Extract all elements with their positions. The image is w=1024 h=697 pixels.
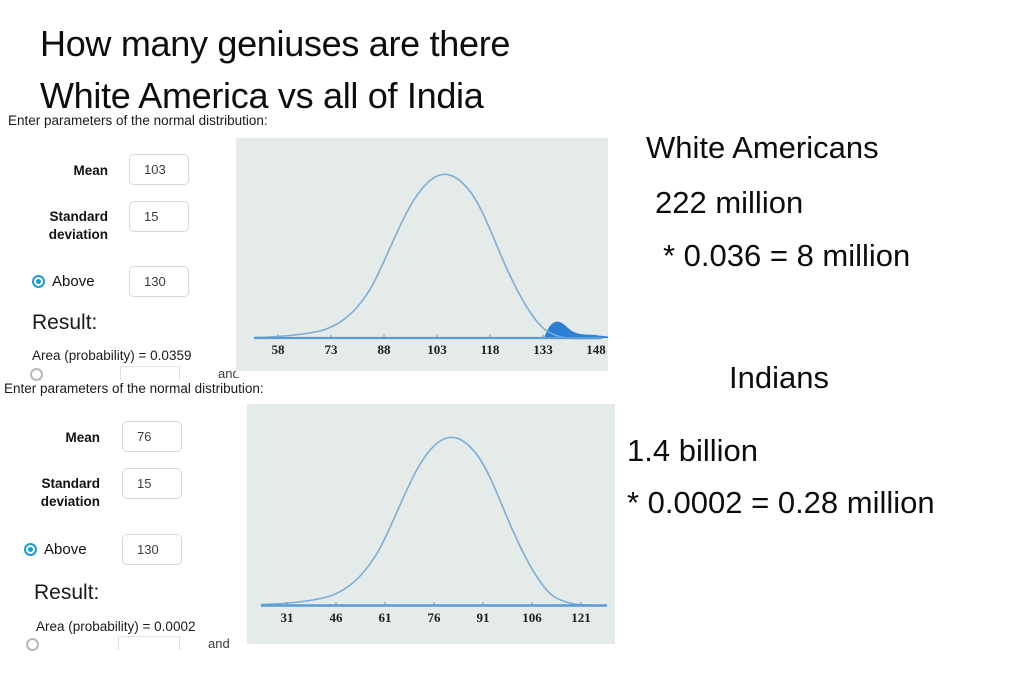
x-axis-tick-labels-bottom: 31 46 61 76 91 106 121 bbox=[281, 610, 591, 625]
tick-label: 76 bbox=[428, 610, 442, 625]
tick-label: 133 bbox=[533, 342, 553, 357]
annotation-white-americans-line2: 222 million bbox=[655, 185, 803, 221]
annotation-white-americans-line3: * 0.036 = 8 million bbox=[663, 238, 910, 274]
tick-label: 103 bbox=[427, 342, 447, 357]
tick-label: 88 bbox=[378, 342, 392, 357]
annotation-indians-line3: * 0.0002 = 0.28 million bbox=[627, 485, 935, 521]
annotation-white-americans-line1: White Americans bbox=[646, 130, 879, 166]
normal-curve-path-top bbox=[254, 174, 600, 338]
above-radio-row-top[interactable]: Above bbox=[32, 273, 95, 290]
normal-curve-chart-top: 58 73 88 103 118 133 148 bbox=[236, 138, 608, 371]
result-area-text-bottom: Area (probability) = 0.0002 bbox=[36, 619, 195, 634]
result-heading-bottom: Result: bbox=[34, 581, 99, 605]
between-radio-icon-bottom[interactable] bbox=[26, 638, 39, 651]
page-title: How many geniuses are there White Americ… bbox=[40, 18, 640, 122]
above-threshold-input-bottom[interactable]: 130 bbox=[122, 534, 182, 565]
mean-input-bottom[interactable]: 76 bbox=[122, 421, 182, 452]
between-radio-row-top[interactable] bbox=[30, 368, 43, 381]
panel-seam-top bbox=[236, 371, 608, 377]
tick-label: 73 bbox=[325, 342, 339, 357]
tick-label: 31 bbox=[281, 610, 294, 625]
mean-input-top[interactable]: 103 bbox=[129, 154, 189, 185]
standard-deviation-input-top[interactable]: 15 bbox=[129, 201, 189, 232]
above-radio-icon-bottom[interactable] bbox=[24, 543, 37, 556]
between-radio-row-bottom[interactable] bbox=[26, 638, 39, 651]
between-lower-input-bottom[interactable] bbox=[118, 636, 180, 650]
above-radio-label-top: Above bbox=[52, 273, 95, 290]
standard-deviation-label-top: Standard deviation bbox=[8, 208, 108, 244]
calculator-header-top: Enter parameters of the normal distribut… bbox=[8, 113, 268, 128]
calculator-header-bottom: Enter parameters of the normal distribut… bbox=[4, 381, 264, 396]
tick-label: 118 bbox=[481, 342, 500, 357]
tick-label: 148 bbox=[586, 342, 606, 357]
tick-label: 106 bbox=[522, 610, 542, 625]
normal-curve-chart-bottom: 31 46 61 76 91 106 121 bbox=[247, 404, 615, 644]
slide-canvas: How many geniuses are there White Americ… bbox=[0, 0, 1024, 697]
tick-label: 61 bbox=[379, 610, 392, 625]
standard-deviation-label-line1: Standard bbox=[8, 208, 108, 226]
between-lower-input-top[interactable] bbox=[120, 366, 180, 380]
between-radio-icon-top[interactable] bbox=[30, 368, 43, 381]
annotation-indians-line1: Indians bbox=[729, 360, 829, 396]
above-radio-icon-top[interactable] bbox=[32, 275, 45, 288]
title-line-1: How many geniuses are there bbox=[40, 18, 640, 70]
annotation-indians-line2: 1.4 billion bbox=[627, 433, 758, 469]
standard-deviation-label-line1: Standard bbox=[0, 475, 100, 493]
shaded-tail-area-top bbox=[544, 322, 608, 338]
between-and-label-bottom: and bbox=[208, 636, 230, 651]
tick-label: 46 bbox=[330, 610, 344, 625]
tick-label: 58 bbox=[272, 342, 286, 357]
above-radio-row-bottom[interactable]: Above bbox=[24, 541, 87, 558]
mean-label-bottom: Mean bbox=[10, 429, 100, 447]
x-axis-tick-labels-top: 58 73 88 103 118 133 148 bbox=[272, 342, 607, 357]
normal-curve-svg-top: 58 73 88 103 118 133 148 bbox=[236, 138, 608, 371]
standard-deviation-label-line2: deviation bbox=[8, 226, 108, 244]
tick-label: 91 bbox=[477, 610, 490, 625]
tick-label: 121 bbox=[571, 610, 591, 625]
above-threshold-input-top[interactable]: 130 bbox=[129, 266, 189, 297]
result-area-text-top: Area (probability) = 0.0359 bbox=[32, 348, 191, 363]
above-radio-label-bottom: Above bbox=[44, 541, 87, 558]
result-heading-top: Result: bbox=[32, 311, 97, 335]
standard-deviation-label-line2: deviation bbox=[0, 493, 100, 511]
normal-curve-svg-bottom: 31 46 61 76 91 106 121 bbox=[247, 404, 615, 644]
normal-curve-path-bottom bbox=[261, 437, 605, 605]
mean-label-top: Mean bbox=[18, 162, 108, 180]
standard-deviation-label-bottom: Standard deviation bbox=[0, 475, 100, 511]
standard-deviation-input-bottom[interactable]: 15 bbox=[122, 468, 182, 499]
